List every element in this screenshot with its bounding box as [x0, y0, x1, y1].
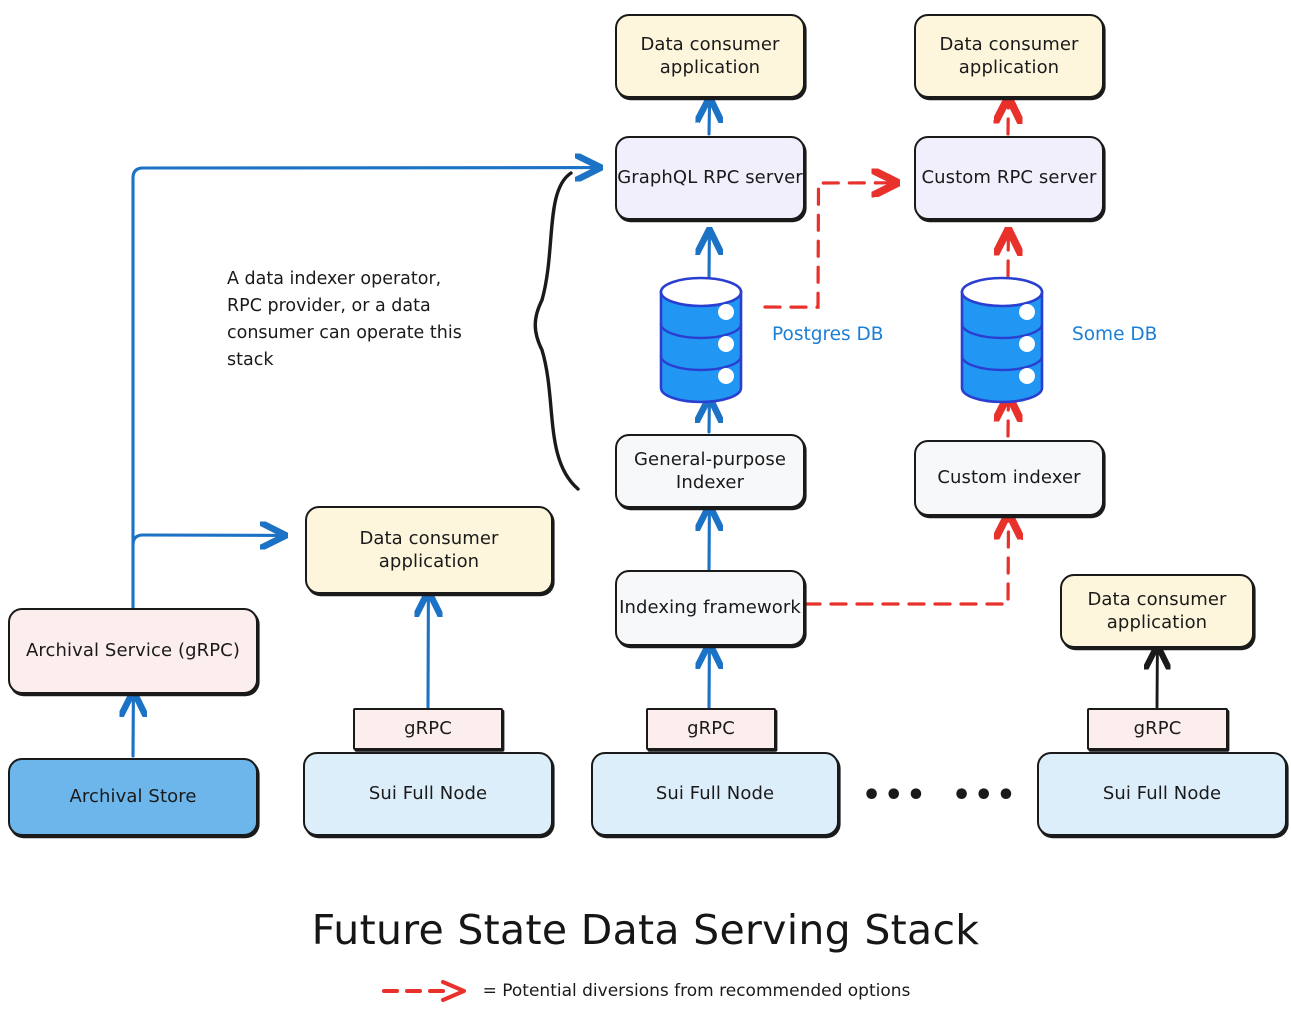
red-dashed-arrow-icon [381, 978, 473, 1004]
legend: = Potential diversions from recommended … [0, 978, 1291, 1004]
node-archival-store[interactable]: Archival Store [8, 758, 258, 836]
node-indexing-framework[interactable]: Indexing framework [615, 570, 805, 646]
node-custom-indexer[interactable]: Custom indexer [914, 440, 1104, 516]
node-data-consumer-custom[interactable]: Data consumer application [914, 14, 1104, 98]
node-graphql-rpc-server[interactable]: GraphQL RPC server [615, 136, 805, 220]
ellipsis-left: ••• [862, 778, 929, 813]
label-postgres-db: Postgres DB [772, 324, 884, 345]
node-data-consumer-left[interactable]: Data consumer application [305, 506, 553, 594]
legend-text: = Potential diversions from recommended … [483, 981, 911, 1001]
ellipsis-right: ••• [952, 778, 1019, 813]
postgres-db-icon [661, 278, 741, 402]
node-data-consumer-right[interactable]: Data consumer application [1060, 574, 1254, 648]
label-some-db: Some DB [1072, 324, 1157, 345]
node-grpc-3[interactable]: gRPC [1087, 708, 1228, 750]
node-data-consumer-graphql[interactable]: Data consumer application [615, 14, 805, 98]
diagram-title: Future State Data Serving Stack [0, 906, 1291, 954]
node-archival-service[interactable]: Archival Service (gRPC) [8, 608, 258, 694]
node-sui-full-node-1[interactable]: Sui Full Node [303, 752, 553, 836]
node-sui-full-node-3[interactable]: Sui Full Node [1037, 752, 1287, 836]
some-db-icon [962, 278, 1042, 402]
node-custom-rpc-server[interactable]: Custom RPC server [914, 136, 1104, 220]
diagram-canvas: Data consumer application Data consumer … [0, 0, 1291, 1018]
node-general-purpose-indexer[interactable]: General-purpose Indexer [615, 434, 805, 508]
annotation-text: A data indexer operator, RPC provider, o… [227, 266, 527, 375]
node-grpc-1[interactable]: gRPC [353, 708, 503, 750]
node-sui-full-node-2[interactable]: Sui Full Node [591, 752, 839, 836]
node-grpc-2[interactable]: gRPC [646, 708, 776, 750]
